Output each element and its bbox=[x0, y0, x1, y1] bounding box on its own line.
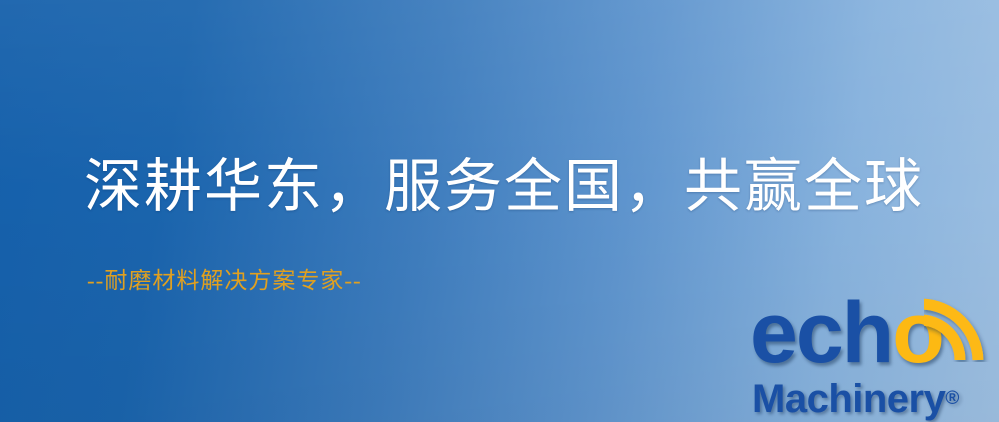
logo-tagline-text: Machinery bbox=[752, 377, 945, 421]
banner-subtitle: --耐磨材料解决方案专家-- bbox=[87, 266, 362, 296]
logo-tagline: Machinery® bbox=[752, 378, 959, 420]
logo-wordmark-prefix: ech bbox=[750, 285, 892, 381]
logo-wordmark: echo bbox=[750, 290, 943, 376]
echo-signal-waves-icon bbox=[924, 292, 999, 362]
banner-headline: 深耕华东，服务全国，共赢全球 bbox=[84, 152, 924, 222]
promo-banner: 深耕华东，服务全国，共赢全球 --耐磨材料解决方案专家-- echo Machi… bbox=[0, 0, 999, 422]
company-logo: echo Machinery® bbox=[742, 290, 999, 422]
registered-trademark-icon: ® bbox=[945, 388, 959, 409]
